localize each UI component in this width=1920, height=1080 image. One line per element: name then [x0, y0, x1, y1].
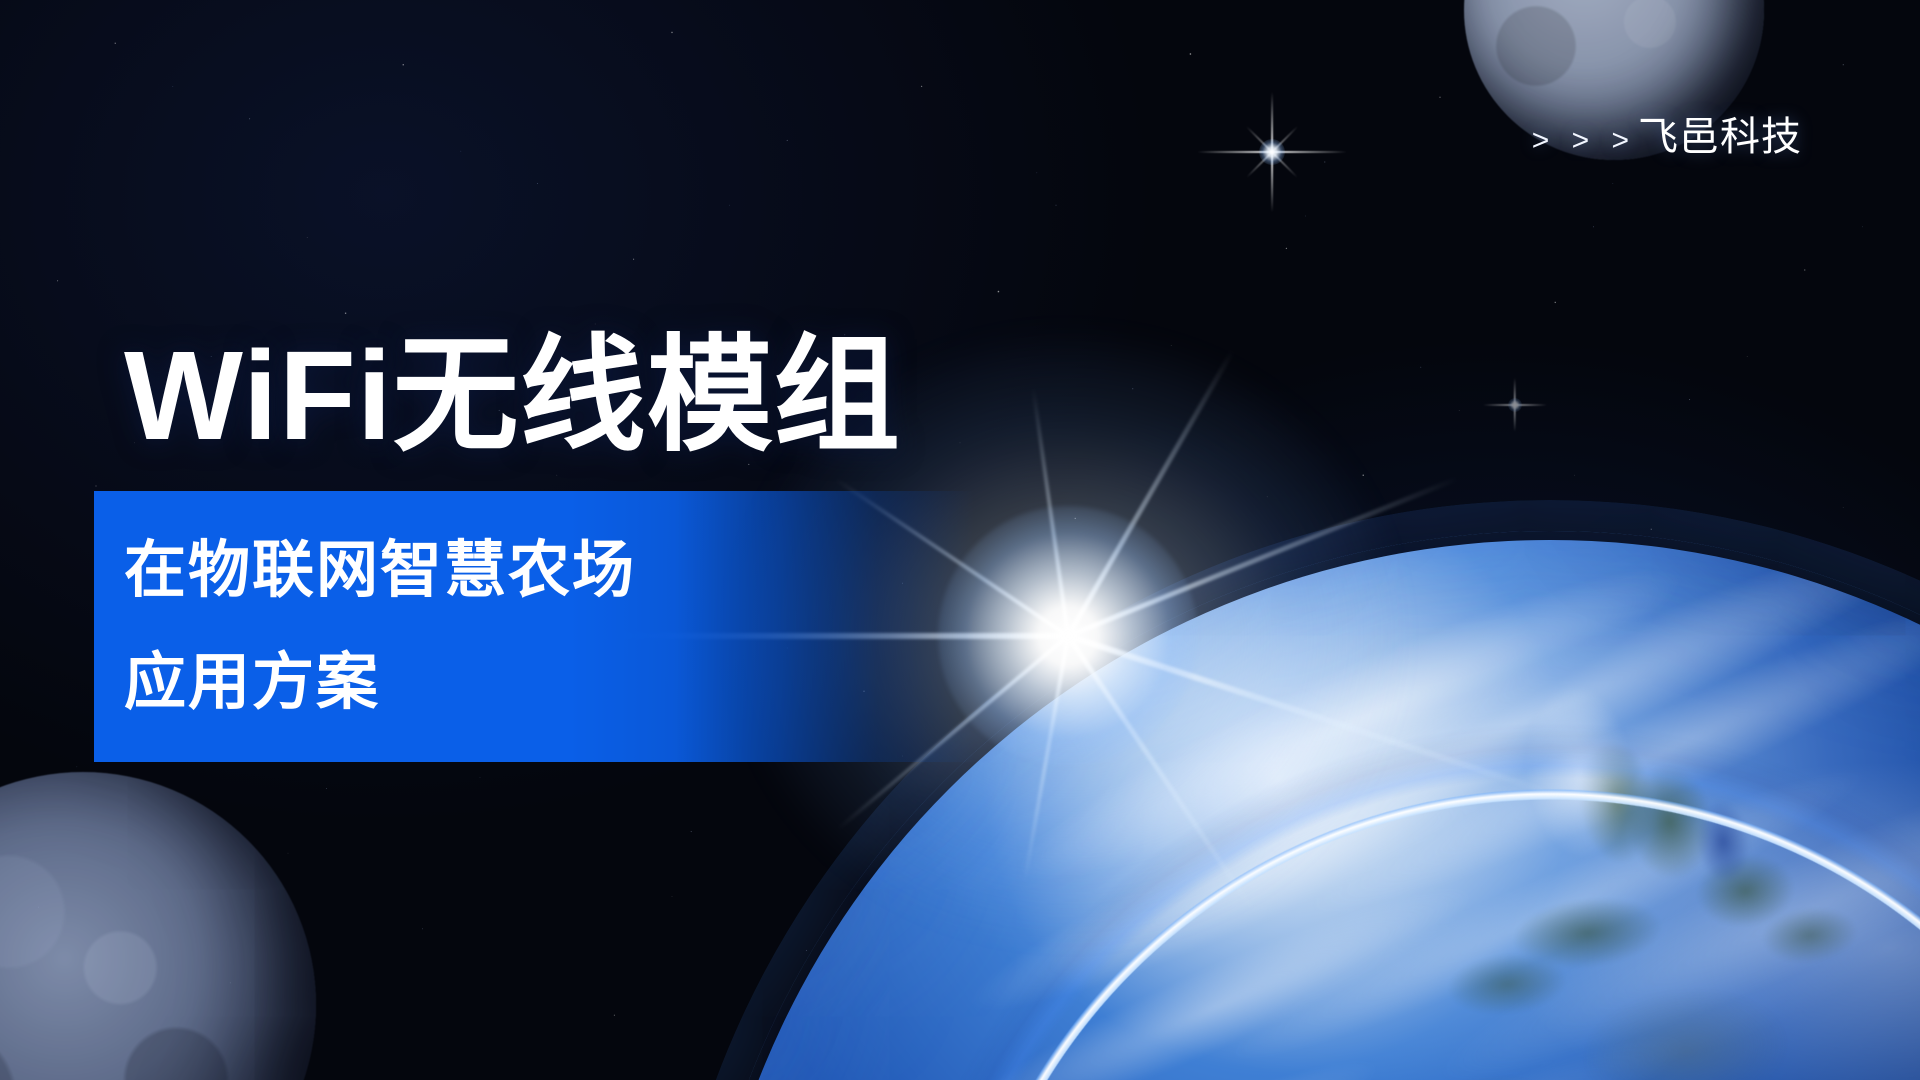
subtitle-block: 在物联网智慧农场 应用方案 [124, 491, 984, 762]
page-title: WiFi无线模组 [124, 329, 901, 463]
brand-logo: > > > 飞邑科技 [1532, 104, 1802, 162]
subtitle-line-2: 应用方案 [124, 652, 984, 714]
brand-name: 飞邑科技 [1638, 104, 1802, 162]
subtitle-line-1: 在物联网智慧农场 [124, 540, 984, 602]
title-slide: > > > 飞邑科技 WiFi无线模组 在物联网智慧农场 应用方案 [0, 0, 1920, 1080]
chevron-right-icon: > > > [1532, 124, 1636, 158]
